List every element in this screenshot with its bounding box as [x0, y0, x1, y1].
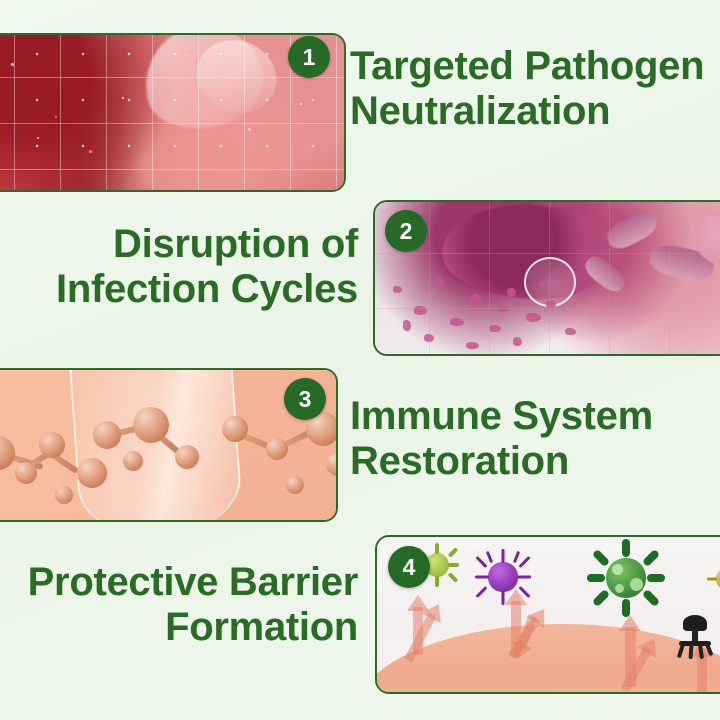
step-1-title: Targeted Pathogen Neutralization [350, 44, 720, 134]
molecule-cluster-center [93, 403, 223, 499]
bacteriophage-icon [673, 615, 719, 659]
grid-overlay [375, 202, 720, 354]
infographic-canvas: 1 Targeted Pathogen Neutralization [0, 0, 720, 720]
step-3-title: Immune System Restoration [350, 394, 720, 484]
step-1-number-badge: 1 [288, 36, 330, 78]
virus-olive-icon [707, 559, 720, 599]
step-4-number-badge: 4 [388, 546, 430, 588]
step-2-number-badge: 2 [385, 210, 427, 252]
step-2-title: Disruption of Infection Cycles [0, 222, 358, 312]
step-3-number-badge: 3 [284, 378, 326, 420]
virus-purple-icon [477, 551, 529, 603]
virus-green-coronavirus-icon [591, 543, 661, 613]
step-4-title: Protective Barrier Formation [0, 560, 358, 650]
